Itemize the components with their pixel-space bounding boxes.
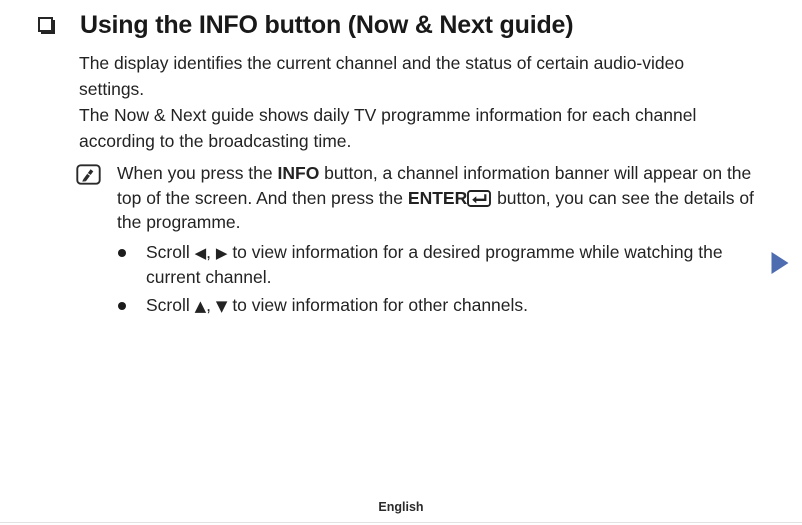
list-item: Scroll ▲, ▼ to view information for othe… <box>118 293 768 318</box>
bullet-1-suffix: to view information for a desired progra… <box>146 242 723 287</box>
page-title: Using the INFO button (Now & Next guide) <box>80 8 573 42</box>
instruction-list: Scroll ◀, ▶ to view information for a de… <box>118 240 768 318</box>
hollow-square-bullet-icon <box>38 17 54 33</box>
intro-paragraphs: The display identifies the current chann… <box>79 50 747 154</box>
note-part-1: When you press the <box>117 163 278 183</box>
paragraph-2: The Now & Next guide shows daily TV prog… <box>79 102 747 154</box>
note-emphasis-enter: ENTER <box>408 188 467 208</box>
list-item: Scroll ◀, ▶ to view information for a de… <box>118 240 768 289</box>
bullet-dot-icon <box>118 249 126 257</box>
footer-language-label: English <box>0 500 802 514</box>
bullet-1-prefix: Scroll <box>146 242 195 262</box>
enter-key-icon <box>467 189 491 206</box>
footer-divider <box>0 522 802 523</box>
note-text: When you press the INFO button, a channe… <box>117 161 765 235</box>
list-item-text: Scroll ◀, ▶ to view information for a de… <box>146 240 768 289</box>
bullet-dot-icon <box>118 302 126 310</box>
arrow-down-icon: ▼ <box>216 297 228 315</box>
manual-page: Using the INFO button (Now & Next guide)… <box>0 0 802 525</box>
list-item-text: Scroll ▲, ▼ to view information for othe… <box>146 293 768 318</box>
bullet-2-suffix: to view information for other channels. <box>227 295 528 315</box>
arrow-right-icon: ▶ <box>216 244 228 262</box>
note-block: When you press the INFO button, a channe… <box>76 161 766 235</box>
bullet-1-separator: , <box>206 242 216 262</box>
arrow-up-icon: ▲ <box>195 297 207 315</box>
note-pen-icon <box>76 164 101 185</box>
arrow-left-icon: ◀ <box>195 244 207 262</box>
page-heading: Using the INFO button (Now & Next guide) <box>38 8 573 42</box>
bullet-2-separator: , <box>206 295 216 315</box>
next-page-triangle-icon[interactable] <box>770 251 790 275</box>
note-emphasis-info: INFO <box>278 163 320 183</box>
paragraph-1: The display identifies the current chann… <box>79 50 747 102</box>
bullet-2-prefix: Scroll <box>146 295 195 315</box>
